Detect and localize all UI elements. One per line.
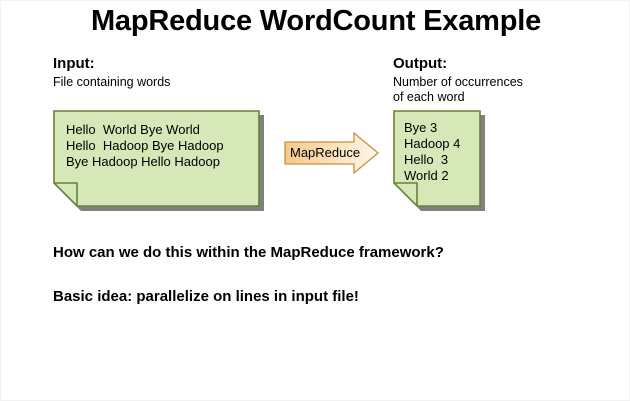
output-line-2: Hadoop 4 bbox=[404, 136, 460, 151]
output-subtitle-line-1: Number of occurrences bbox=[393, 75, 523, 89]
output-subtitle-line-2: of each word bbox=[393, 90, 465, 104]
input-line-1: Hello World Bye World bbox=[66, 122, 200, 137]
input-line-2: Hello Hadoop Bye Hadoop bbox=[66, 138, 224, 153]
mapreduce-arrow-body bbox=[285, 133, 378, 173]
slide-canvas: MapReduce WordCount Example Input: File … bbox=[0, 0, 630, 401]
output-line-4: World 2 bbox=[404, 168, 449, 183]
mapreduce-arrow-svg bbox=[284, 132, 380, 174]
input-line-3: Bye Hadoop Hello Hadoop bbox=[66, 154, 220, 169]
input-subtitle: File containing words bbox=[53, 75, 170, 90]
output-subtitle: Number of occurrencesof each word bbox=[393, 75, 523, 105]
output-heading: Output: bbox=[393, 55, 447, 72]
input-heading: Input: bbox=[53, 55, 95, 72]
question-text: How can we do this within the MapReduce … bbox=[53, 244, 444, 261]
output-document-text: Bye 3Hadoop 4Hello 3World 2 bbox=[404, 120, 460, 184]
idea-text: Basic idea: parallelize on lines in inpu… bbox=[53, 288, 359, 305]
output-line-3: Hello 3 bbox=[404, 152, 448, 167]
output-line-1: Bye 3 bbox=[404, 120, 437, 135]
input-document-text: Hello World Bye WorldHello Hadoop Bye Ha… bbox=[66, 122, 224, 170]
output-document-shape: Bye 3Hadoop 4Hello 3World 2 bbox=[393, 110, 489, 214]
input-document-shape: Hello World Bye WorldHello Hadoop Bye Ha… bbox=[53, 110, 267, 214]
page-title: MapReduce WordCount Example bbox=[1, 5, 630, 38]
mapreduce-arrow[interactable]: MapReduce bbox=[284, 132, 380, 174]
